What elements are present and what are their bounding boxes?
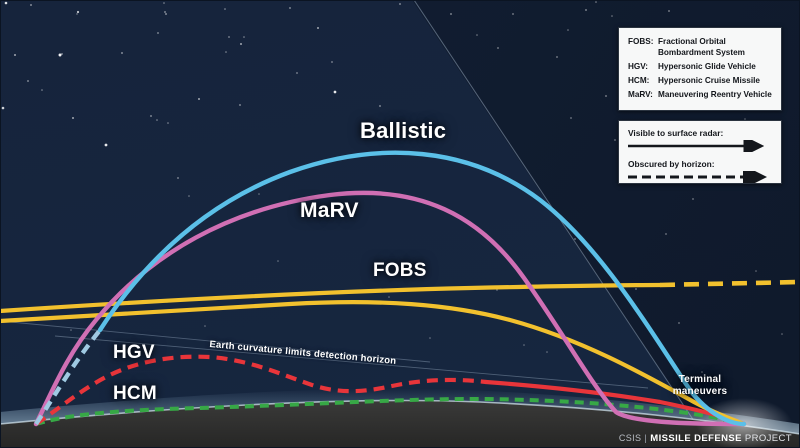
legend-value-fobs-cont: Bombardment System bbox=[658, 47, 781, 58]
legend-row-marv: MaRV: Maneuvering Reentry Vehicle bbox=[619, 86, 781, 100]
credit-line: CSIS|MISSILE DEFENSE PROJECT bbox=[619, 433, 792, 444]
legend-visible-arrow bbox=[619, 138, 781, 157]
credit-divider: | bbox=[644, 433, 647, 444]
legend-key-hgv: HGV: bbox=[628, 61, 658, 72]
legend-value-marv: Maneuvering Reentry Vehicle bbox=[658, 89, 781, 100]
legend-row-fobs-cont: Bombardment System bbox=[619, 47, 781, 58]
legend-row-hgv: HGV: Hypersonic Glide Vehicle bbox=[619, 58, 781, 72]
legend-obscured-arrow bbox=[619, 169, 781, 188]
legend-key-hcm: HCM: bbox=[628, 75, 658, 86]
legend-value-hgv: Hypersonic Glide Vehicle bbox=[658, 61, 781, 72]
legend-key-fobs-cont bbox=[628, 47, 658, 58]
legend-key-fobs: FOBS: bbox=[628, 36, 658, 47]
legend-radar-box: Visible to surface radar: Obscured by ho… bbox=[618, 120, 782, 184]
legend-definitions-box: FOBS: Fractional Orbital Bombardment Sys… bbox=[618, 27, 782, 111]
legend-obscured-label: Obscured by horizon: bbox=[619, 157, 781, 169]
legend-row-hcm: HCM: Hypersonic Cruise Missile bbox=[619, 72, 781, 86]
credit-org: CSIS bbox=[619, 433, 642, 443]
legend-row-fobs: FOBS: Fractional Orbital bbox=[619, 36, 781, 47]
diagram-canvas: Ballistic MaRV FOBS HGV HCM Earth curvat… bbox=[0, 0, 800, 448]
legend-visible-label: Visible to surface radar: bbox=[619, 121, 781, 138]
legend-value-hcm: Hypersonic Cruise Missile bbox=[658, 75, 781, 86]
legend-value-fobs: Fractional Orbital bbox=[658, 36, 781, 47]
legend-key-marv: MaRV: bbox=[628, 89, 658, 100]
credit-project-bold: MISSILE DEFENSE bbox=[650, 433, 742, 444]
credit-project-light: PROJECT bbox=[745, 433, 792, 444]
